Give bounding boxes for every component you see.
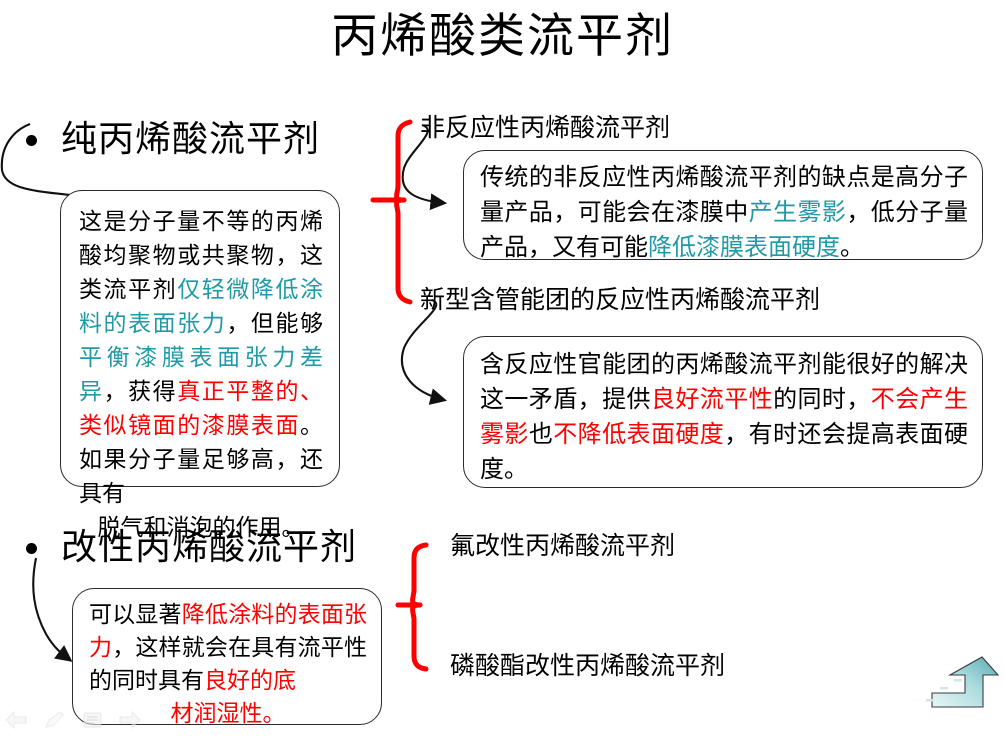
page-title: 丙烯酸类流平剂: [0, 6, 1005, 68]
seg-black: ，但能够: [226, 311, 323, 337]
seg-black: 也: [529, 420, 553, 448]
seg-black: 。: [840, 233, 864, 261]
textbox-pure-acrylic-text: 这是分子量不等的丙烯酸均聚物或共聚物，这类流平剂仅轻微降低涂料的表面张力，但能够…: [61, 191, 339, 545]
branch-heading-fluoro: 氟改性丙烯酸流平剂: [450, 530, 675, 562]
textbox-nonreactive: 传统的非反应性丙烯酸流平剂的缺点是高分子量产品，可能会在漆膜中产生雾影，低分子量…: [463, 150, 983, 260]
bullet-label-pure: 纯丙烯酸流平剂: [61, 118, 320, 162]
pen-icon[interactable]: [42, 710, 66, 730]
textbox-reactive: 含反应性官能团的丙烯酸流平剂能很好的解决这一矛盾，提供良好流平性的同时，不会产生…: [463, 336, 983, 488]
arrow-to-modified-box: [33, 558, 70, 660]
corner-graphic-icon: [920, 655, 1000, 715]
seg-teal: 产生雾影: [749, 198, 847, 226]
seg-red: 良好的底: [204, 668, 296, 694]
brace-bottom: [398, 545, 426, 669]
textbox-modified-acrylic: 可以显著降低涂料的表面张力，这样就会在具有流平性的同时具有良好的底 材润湿性。: [72, 588, 382, 725]
textbox-pure-acrylic: 这是分子量不等的丙烯酸均聚物或共聚物，这类流平剂仅轻微降低涂料的表面张力，但能够…: [60, 190, 340, 487]
slide-nav-bar[interactable]: [4, 706, 144, 734]
textbox-reactive-text: 含反应性官能团的丙烯酸流平剂能很好的解决这一矛盾，提供良好流平性的同时，不会产生…: [464, 337, 982, 487]
menu-icon[interactable]: [80, 710, 104, 730]
seg-black: ，获得: [104, 379, 178, 405]
previous-arrow-icon[interactable]: [4, 710, 28, 730]
slide-canvas: 丙烯酸类流平剂: [0, 0, 1005, 736]
seg-black: 可以显著: [89, 602, 182, 628]
seg-red: 不降低表面硬度: [553, 420, 724, 448]
textbox-nonreactive-text: 传统的非反应性丙烯酸流平剂的缺点是高分子量产品，可能会在漆膜中产生雾影，低分子量…: [464, 151, 982, 265]
branch-heading-phosphate: 磷酸酯改性丙烯酸流平剂: [450, 650, 725, 682]
bullet-dot-icon: [26, 543, 37, 554]
branch-heading-reactive: 新型含管能团的反应性丙烯酸流平剂: [420, 284, 820, 316]
bullet-dot-icon: [26, 135, 37, 146]
seg-black: 的同时，: [773, 385, 871, 413]
next-arrow-icon[interactable]: [118, 710, 142, 730]
bullet-item-pure: 纯丙烯酸流平剂: [26, 118, 320, 162]
seg-red: 良好流平性: [651, 385, 773, 413]
seg-lastline: 脱气和消泡的作用。: [79, 511, 323, 545]
brace-top: [373, 122, 410, 302]
branch-heading-nonreactive: 非反应性丙烯酸流平剂: [420, 112, 670, 144]
seg-teal: 降低漆膜表面硬度: [648, 233, 840, 261]
